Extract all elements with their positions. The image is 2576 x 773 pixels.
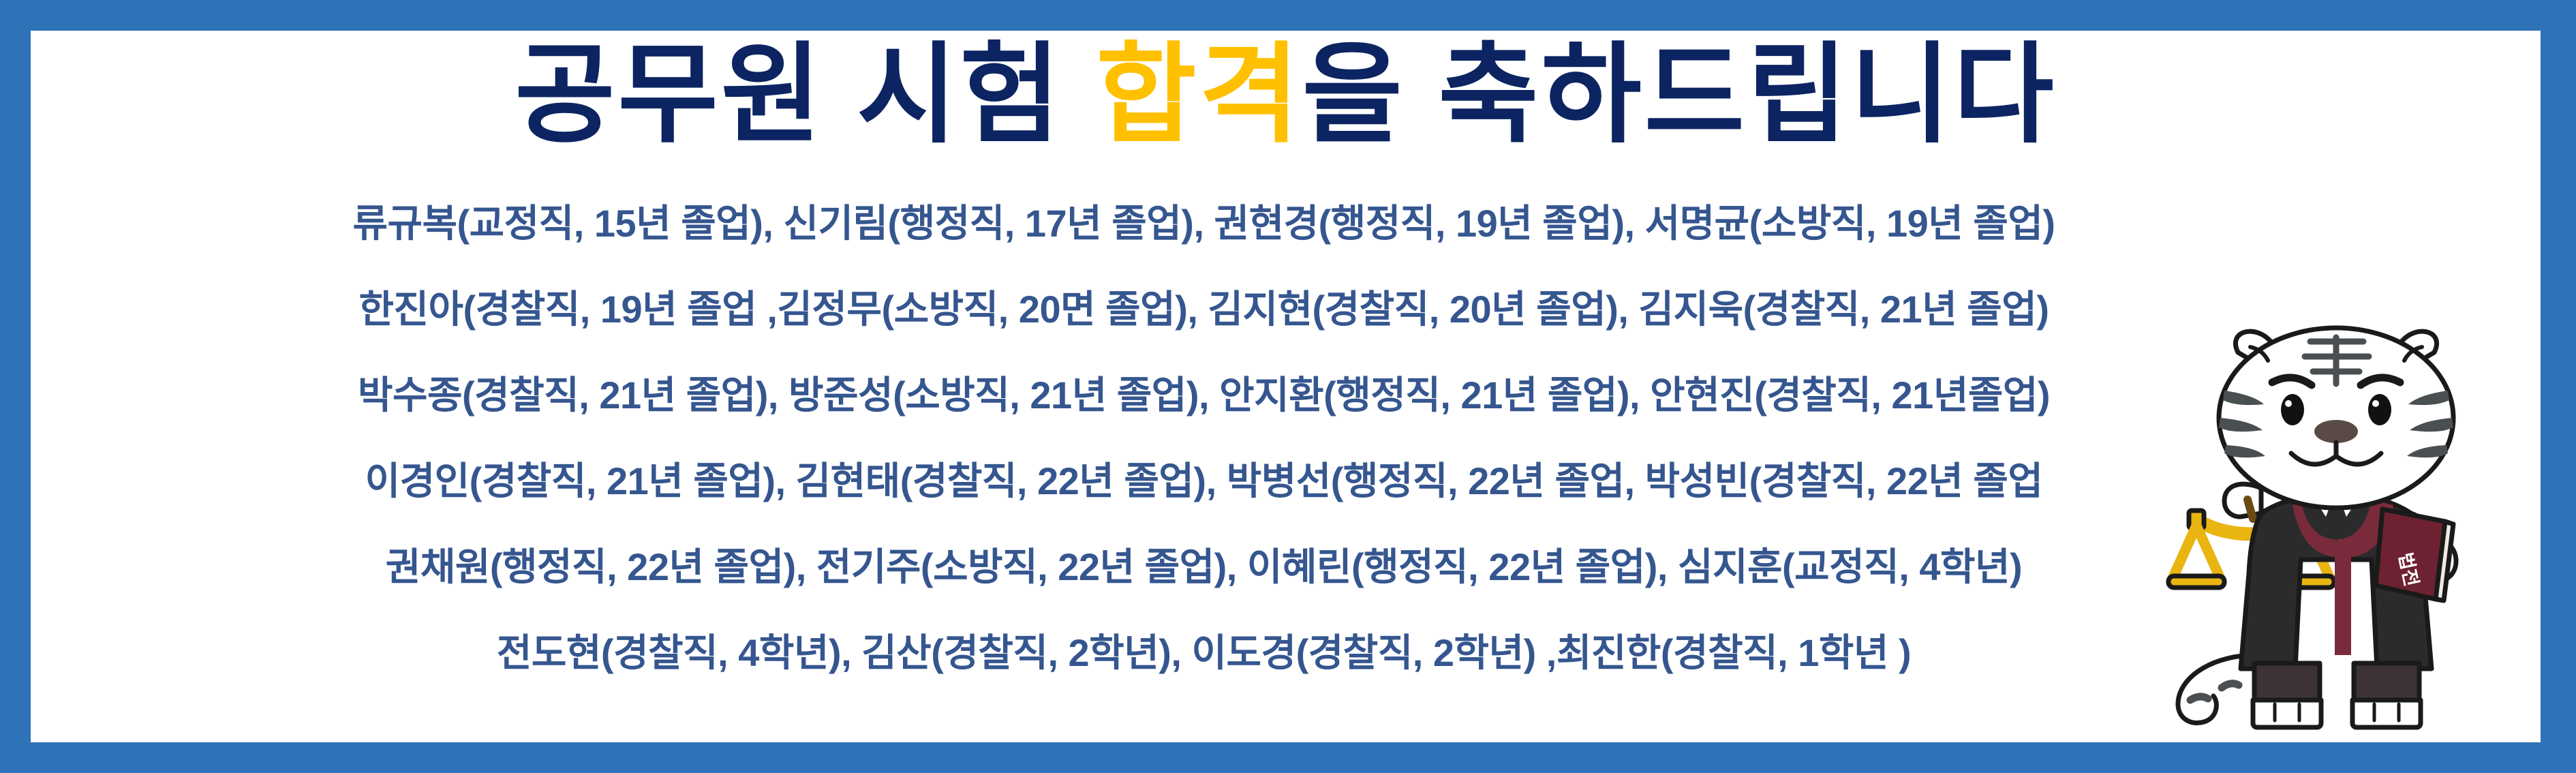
foot-left: [2253, 700, 2321, 727]
eye-glint-left: [2285, 400, 2292, 407]
tiger-tail: [2178, 655, 2249, 723]
eye-glint-right: [2372, 400, 2379, 407]
tiger-nose: [2314, 420, 2358, 443]
law-book-icon: 법전: [2376, 509, 2453, 601]
congratulations-banner: 공무원 시험 합격을 축하드립니다 류규복(교정직, 15년 졸업), 신기림(…: [0, 0, 2576, 773]
title-part-2: 을 축하드립니다: [1302, 33, 2057, 155]
tail-stripe: [2222, 684, 2239, 688]
title-part-1: 공무원 시험: [515, 33, 1096, 155]
tail-stripe: [2190, 697, 2208, 700]
tiger-left-paw: [2224, 484, 2261, 517]
eye-left: [2281, 394, 2304, 425]
honoree-line: 류규복(교정직, 15년 졸업), 신기림(행정직, 17년 졸업), 권현경(…: [31, 204, 2541, 243]
mascot-illustration: 법전: [2159, 314, 2513, 737]
foot-right: [2352, 700, 2421, 727]
banner-title: 공무원 시험 합격을 축하드립니다: [31, 36, 2541, 154]
banner-canvas: 공무원 시험 합격을 축하드립니다 류규복(교정직, 15년 졸업), 신기림(…: [31, 31, 2541, 742]
white-tiger-judge-mascot-icon: 법전: [2159, 314, 2513, 737]
eye-right: [2368, 394, 2391, 425]
title-highlight-pass: 합격: [1096, 33, 1302, 155]
